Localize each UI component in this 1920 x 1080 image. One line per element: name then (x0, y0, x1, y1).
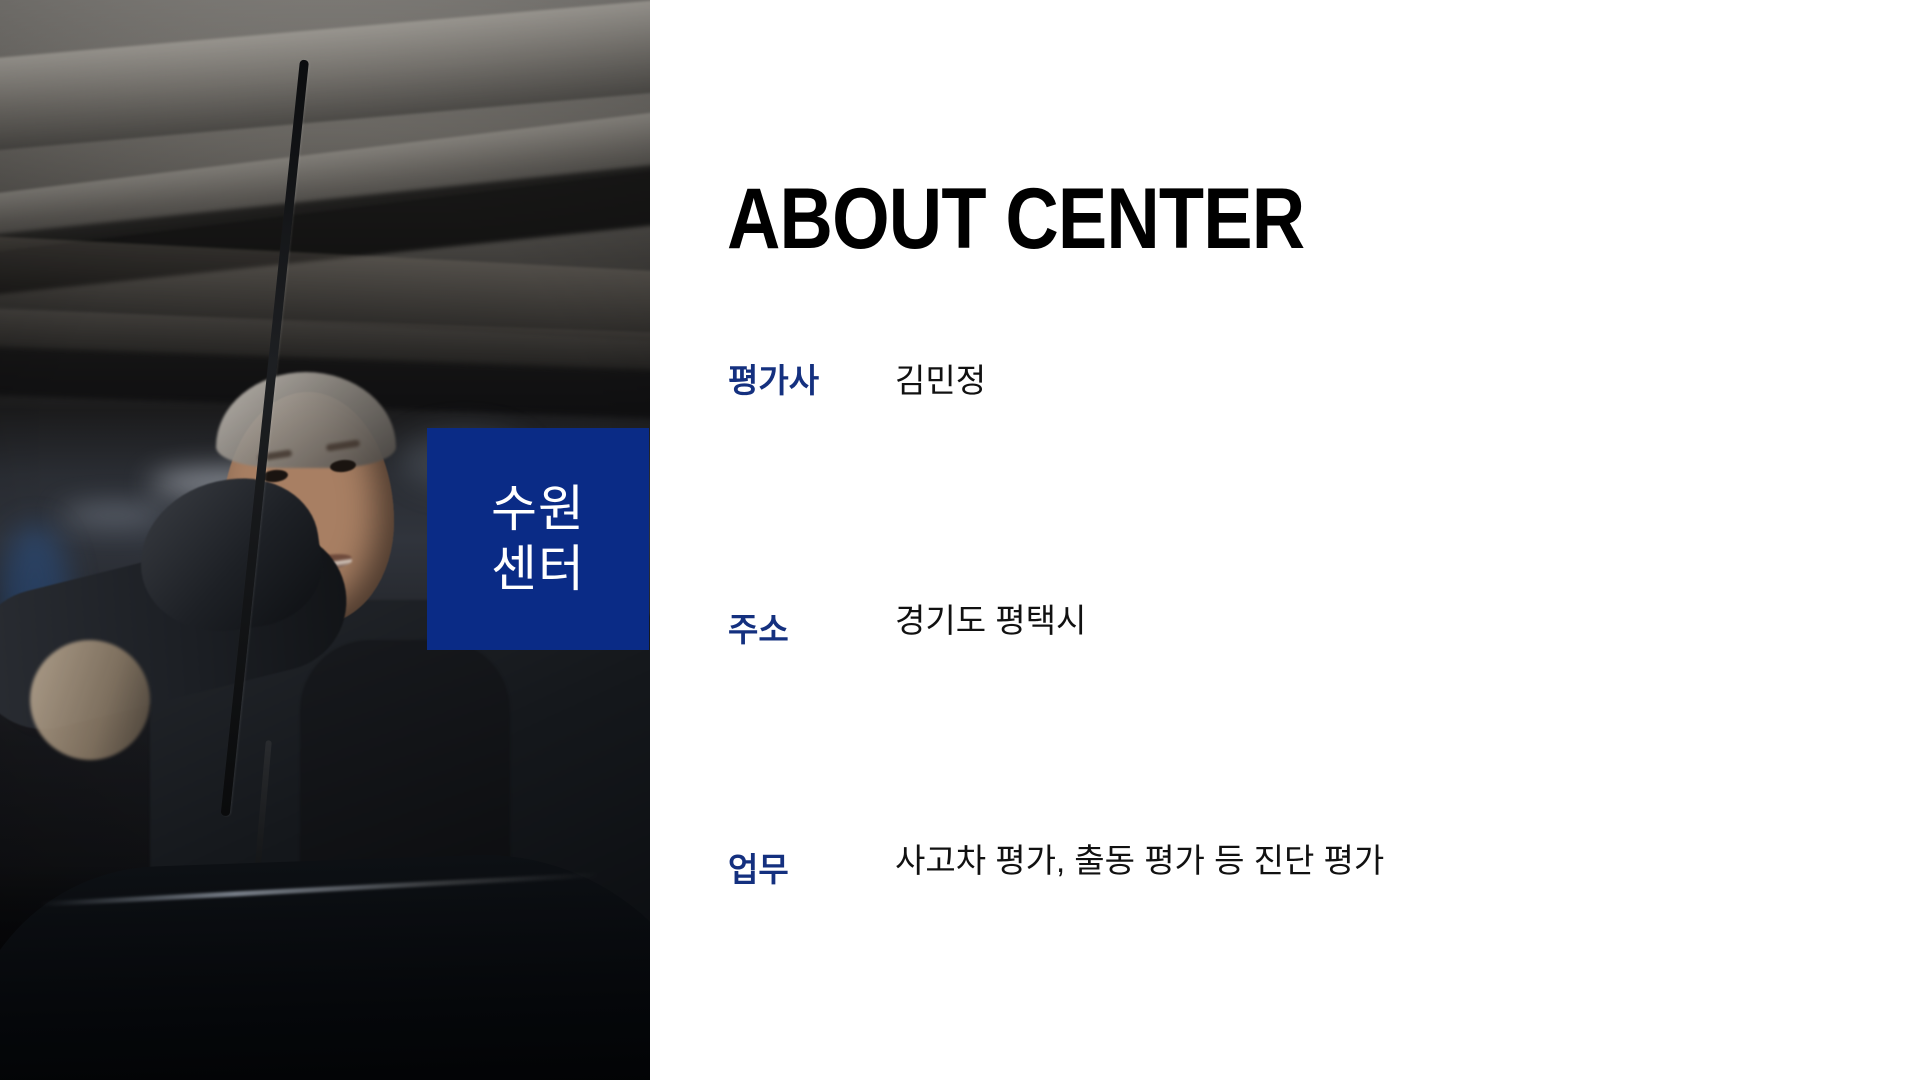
info-value-address: 경기도 평택시 (895, 600, 1086, 641)
center-info-list: 평가사 김민정 주소 경기도 평택시 업무 사고차 평가, 출동 평가 등 진단… (728, 360, 1828, 840)
info-label-duty: 업무 (728, 849, 878, 890)
info-value-evaluator: 김민정 (895, 360, 986, 401)
about-center-slide: 수원 센터 ABOUT CENTER 평가사 김민정 주소 경기도 평택시 업무… (0, 0, 1920, 1080)
content-panel: ABOUT CENTER 평가사 김민정 주소 경기도 평택시 업무 사고차 평… (650, 0, 1920, 1080)
info-row-evaluator: 평가사 김민정 (728, 360, 1828, 600)
car-hood (0, 847, 650, 1080)
center-name-badge: 수원 센터 (427, 428, 649, 650)
info-value-duty: 사고차 평가, 출동 평가 등 진단 평가 (895, 840, 1384, 881)
center-photo: 수원 센터 (0, 0, 650, 1080)
center-badge-line-1: 수원 (491, 480, 585, 539)
info-row-address: 주소 경기도 평택시 (728, 600, 1828, 840)
page-title: ABOUT CENTER (727, 176, 1304, 262)
info-label-address: 주소 (728, 609, 878, 650)
info-label-evaluator: 평가사 (728, 360, 878, 401)
center-badge-line-2: 센터 (491, 540, 585, 599)
